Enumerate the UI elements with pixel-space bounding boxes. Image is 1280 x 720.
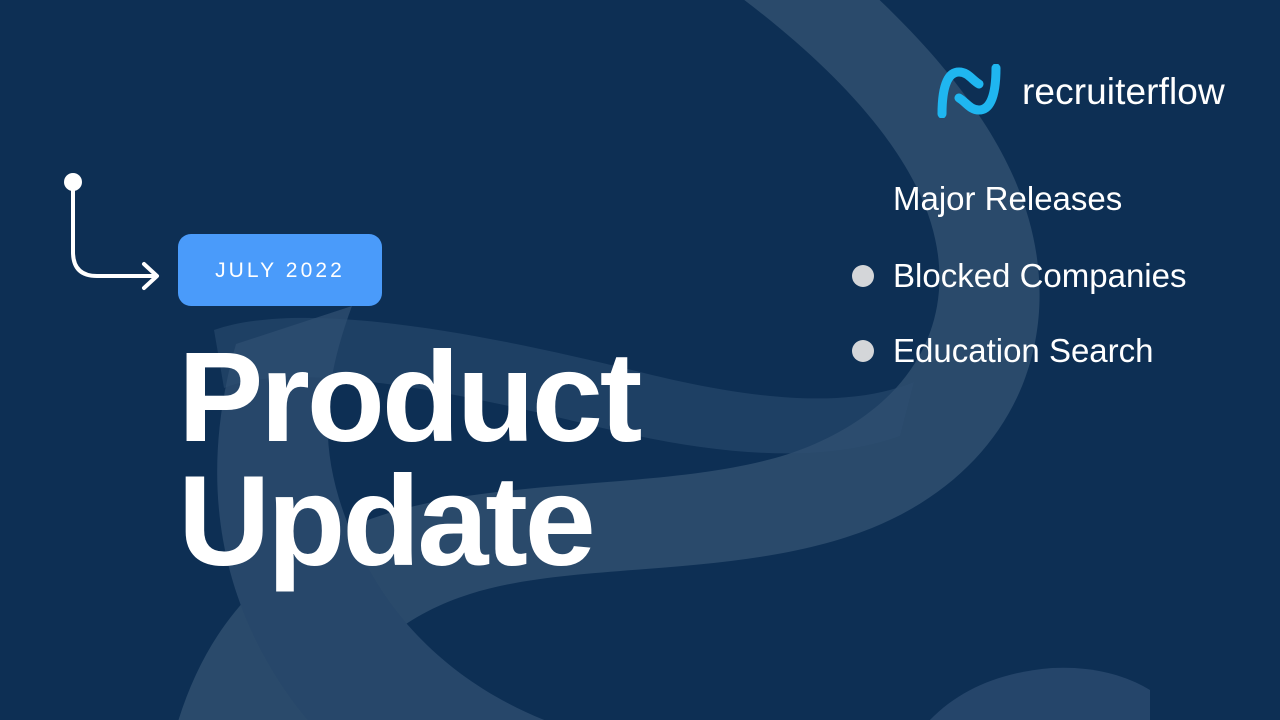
brand-logo-lockup: recruiterflow [934,64,1225,118]
list-item: Education Search [852,332,1252,371]
major-releases-panel: Major Releases Blocked Companies Educati… [852,180,1252,407]
bullet-dot-icon [852,265,874,287]
bullet-dot-icon [852,340,874,362]
release-item-label: Blocked Companies [893,257,1187,296]
swoosh-bottom-wedge-path [928,668,1150,720]
recruiterflow-wave-logo-icon [934,64,1004,118]
release-item-label: Education Search [893,332,1154,371]
list-item: Blocked Companies [852,257,1252,296]
elbow-arrow-icon [56,164,174,292]
date-badge: JULY 2022 [178,234,382,306]
product-update-slide: recruiterflow Major Releases Blocked Com… [0,0,1280,720]
headline-line-1: Product [178,336,818,460]
date-badge-label: JULY 2022 [215,260,345,281]
headline-line-2: Update [178,460,818,584]
releases-heading: Major Releases [893,180,1252,219]
brand-wordmark: recruiterflow [1022,73,1225,110]
page-title: Product Update [178,336,818,584]
